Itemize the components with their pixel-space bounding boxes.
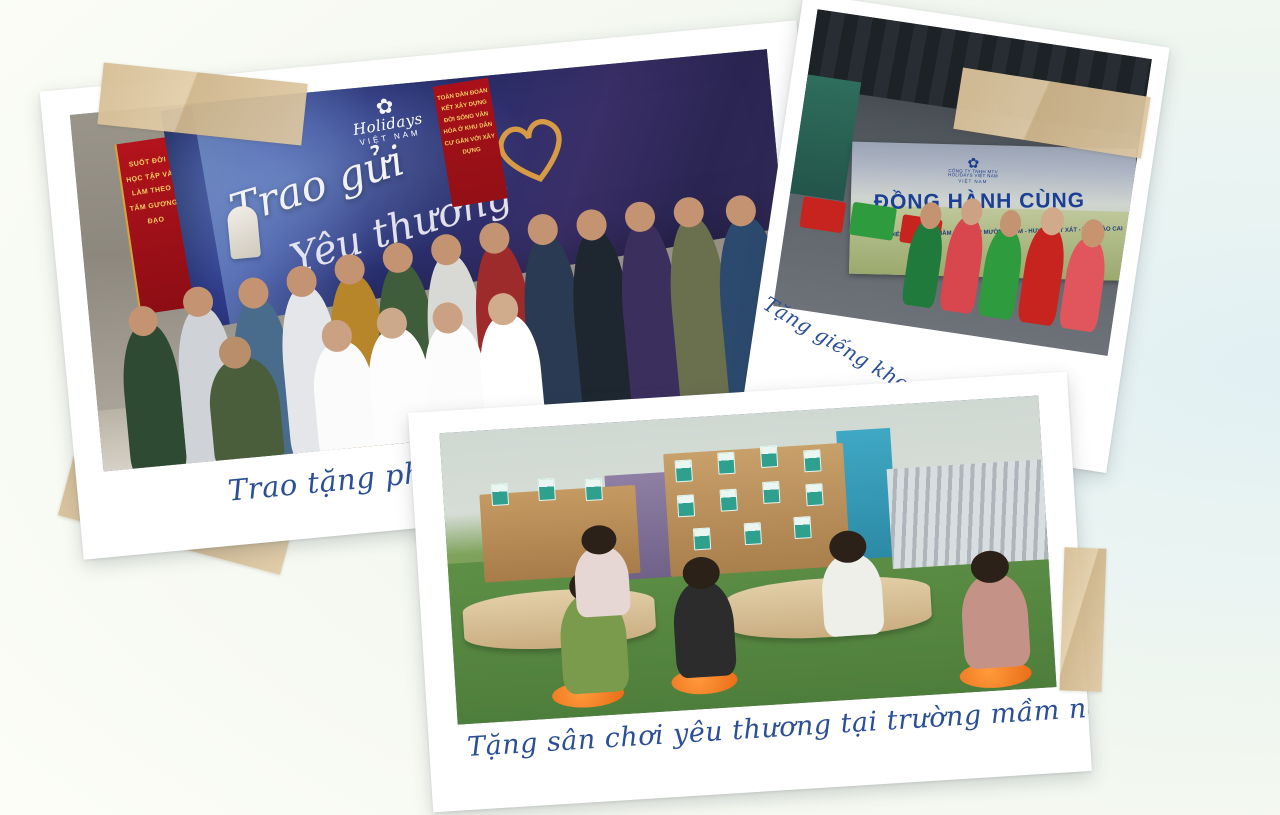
photo-card-3[interactable]: Tặng sân chơi yêu thương tại trường mầm … xyxy=(408,372,1092,813)
photo-1-statue xyxy=(226,205,261,260)
photo-3-image xyxy=(439,396,1056,725)
photo-3-fence xyxy=(887,460,1049,569)
photo-2-children xyxy=(894,176,1123,355)
photo-2-brand-logo: ✿ CÔNG TY TNHH MTV HOLIDAYS VIỆT NAM VIỆ… xyxy=(948,155,999,185)
tape-bottom-right xyxy=(1060,547,1107,691)
photo-2-image: ✿ CÔNG TY TNHH MTV HOLIDAYS VIỆT NAM VIỆ… xyxy=(773,9,1152,356)
photo-3-bookshelf-right xyxy=(663,443,850,577)
collage-stage: SUỐT ĐỜI HỌC TẬP VÀ LÀM THEO TẤM GƯƠNG Đ… xyxy=(0,0,1280,815)
